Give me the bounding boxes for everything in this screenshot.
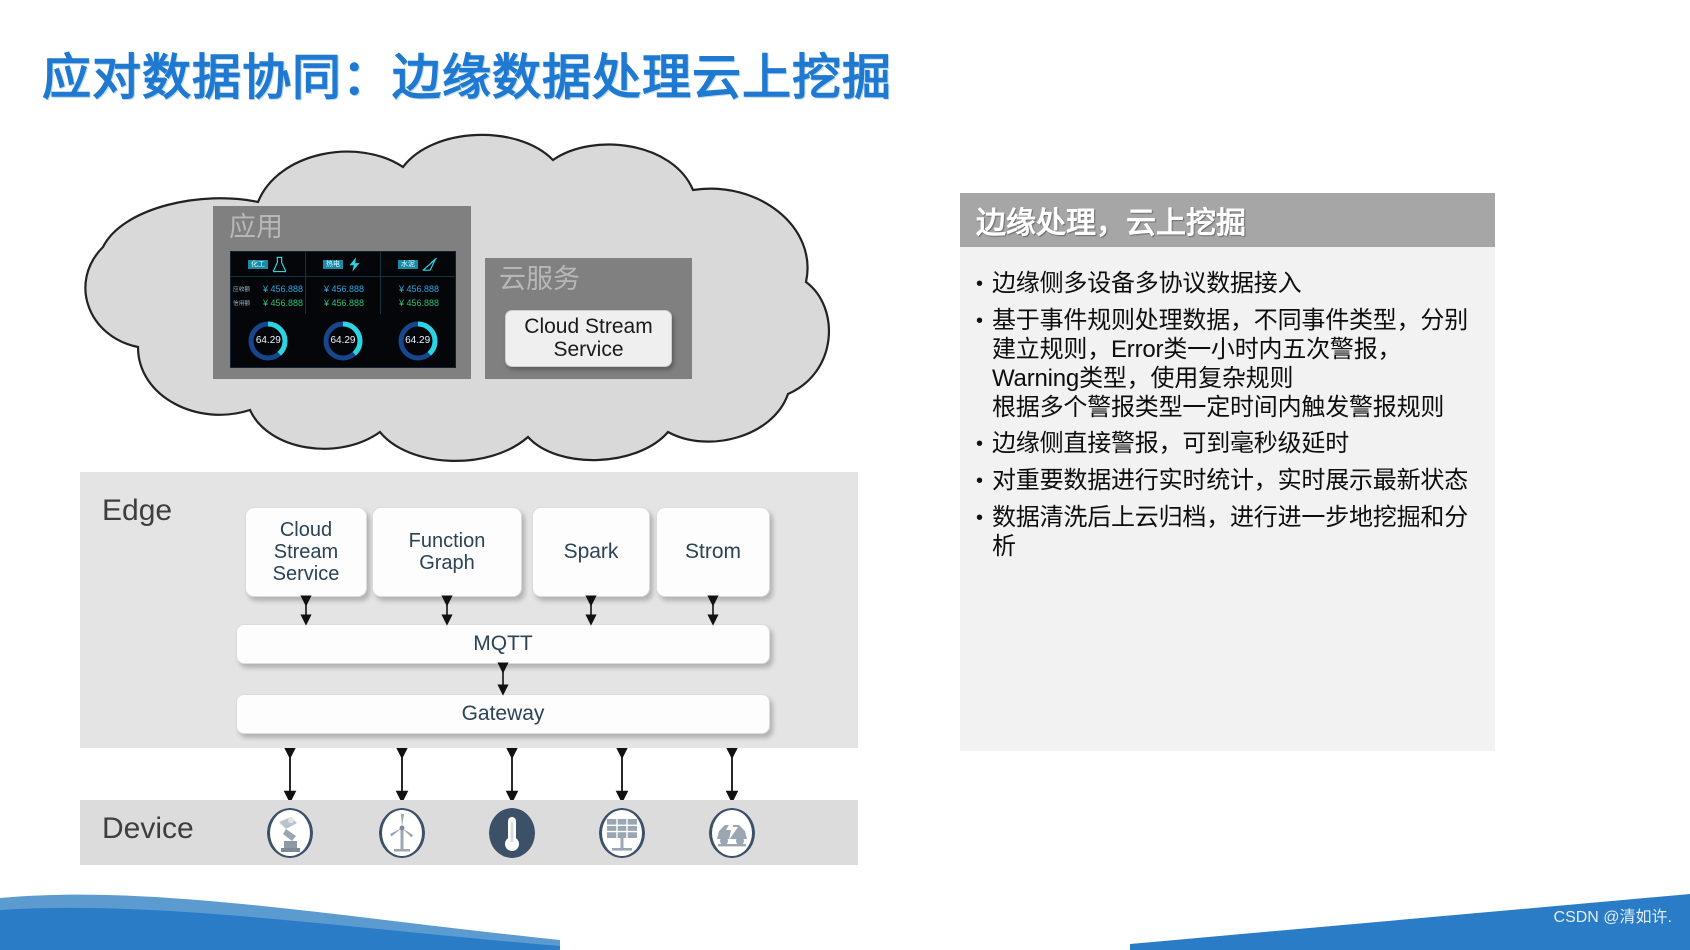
watermark: CSDN @清如许. — [1554, 903, 1672, 927]
dashboard-row-label: 信用额 — [233, 298, 260, 307]
dashboard-values: ¥ 456.888 ¥ 456.888 — [306, 277, 380, 314]
edge-node-strom[interactable]: Strom — [656, 507, 770, 597]
bullet-text: 基于事件规则处理数据，不同事件类型，分别建立规则，Error类一小时内五次警报，… — [992, 306, 1481, 422]
gauge-value: 64.29 — [396, 319, 440, 363]
edge-bar-gateway[interactable]: Gateway — [236, 694, 770, 734]
dashboard-widget: 化工 应收额 ¥ 456.888 — [230, 251, 456, 368]
cloud-service-panel: 云服务 Cloud Stream Service — [485, 258, 692, 379]
dashboard-column: 化工 应收额 ¥ 456.888 — [231, 252, 306, 314]
gauge-value: 64.29 — [246, 319, 290, 363]
app-panel-label: 应用 — [229, 214, 283, 241]
bullet-list: • 边缘侧多设备多协议数据接入 • 基于事件规则处理数据，不同事件类型，分别建立… — [960, 247, 1495, 561]
dashboard-cell: ¥ 456.888 — [308, 284, 380, 294]
list-item: • 对重要数据进行实时统计，实时展示最新状态 — [976, 466, 1481, 496]
dashboard-column: 水泥 ¥ 456.888 ¥ 456.888 — [381, 252, 455, 314]
edge-label: Edge — [102, 494, 172, 528]
dashboard-column-tag: 热电 — [323, 260, 343, 269]
device-block: Device — [80, 800, 858, 865]
thermometer-icon[interactable] — [489, 808, 535, 858]
dashboard-cell: ¥ 456.888 — [261, 298, 305, 308]
gauge-ring: 64.29 — [396, 319, 440, 363]
dashboard-values: 应收额 ¥ 456.888 信用额 ¥ 456.888 — [231, 277, 305, 314]
dashboard-row: ¥ 456.888 — [306, 296, 380, 310]
bullet-marker: • — [976, 503, 992, 561]
wind-turbine-icon[interactable] — [379, 808, 425, 858]
edge-bar-mqtt[interactable]: MQTT — [236, 624, 770, 664]
dashboard-values: ¥ 456.888 ¥ 456.888 — [381, 277, 455, 314]
bullet-text: 对重要数据进行实时统计，实时展示最新状态 — [992, 466, 1468, 496]
dashboard-column: 热电 ¥ 456.888 ¥ 456.888 — [306, 252, 381, 314]
gauge-ring: 64.29 — [246, 319, 290, 363]
page-title: 应对数据协同：边缘数据处理云上挖掘 — [42, 38, 892, 109]
dashboard-column-head: 水泥 — [381, 252, 455, 277]
dashboard-row: 应收额 ¥ 456.888 — [231, 282, 305, 296]
dashboard-row: ¥ 456.888 — [381, 282, 455, 296]
dashboard-cell: ¥ 456.888 — [308, 298, 380, 308]
flask-icon — [271, 256, 288, 273]
cloud-stream-service-box[interactable]: Cloud Stream Service — [505, 310, 672, 367]
bullet-text: 边缘侧多设备多协议数据接入 — [992, 269, 1301, 299]
dashboard-column-head: 热电 — [306, 252, 380, 277]
app-panel: 应用 化工 应收额 — [213, 206, 471, 379]
bullet-text: 边缘侧直接警报，可到毫秒级延时 — [992, 429, 1349, 459]
list-item: • 数据清洗后上云归档，进行进一步地挖掘和分析 — [976, 503, 1481, 561]
cloud-stream-service-line2: Service — [553, 338, 623, 361]
edge-node-spark[interactable]: Spark — [532, 507, 650, 597]
edge-node-label: Function Graph — [409, 530, 486, 574]
dashboard-row: 信用额 ¥ 456.888 — [231, 296, 305, 310]
dashboard-cell: ¥ 456.888 — [261, 284, 305, 294]
list-item: • 边缘侧直接警报，可到毫秒级延时 — [976, 429, 1481, 459]
bullet-marker: • — [976, 466, 992, 496]
cloud-region: 应用 化工 应收额 — [28, 132, 868, 477]
edge-block: Edge Cloud Stream Service Function Graph… — [80, 472, 858, 748]
bullet-marker: • — [976, 306, 992, 422]
trowel-icon — [421, 256, 438, 273]
edge-node-label: Cloud Stream Service — [273, 519, 340, 585]
dashboard-cell: ¥ 456.888 — [383, 284, 455, 294]
dashboard-cell: ¥ 456.888 — [383, 298, 455, 308]
edge-bar-label: MQTT — [473, 632, 532, 656]
edge-node-label: Strom — [685, 540, 741, 563]
gauge-ring: 64.29 — [321, 319, 365, 363]
device-label: Device — [102, 812, 194, 846]
dashboard-column-tag: 化工 — [248, 260, 268, 269]
bullet-marker: • — [976, 429, 992, 459]
dashboard-gauges: 64.29 64.29 64.29 — [231, 314, 455, 367]
bullet-marker: • — [976, 269, 992, 299]
right-info-panel: 边缘处理，云上挖掘 • 边缘侧多设备多协议数据接入 • 基于事件规则处理数据，不… — [960, 193, 1495, 751]
cloud-service-label: 云服务 — [499, 266, 580, 293]
cloud-stream-service-line1: Cloud Stream — [524, 315, 652, 338]
list-item: • 基于事件规则处理数据，不同事件类型，分别建立规则，Error类一小时内五次警… — [976, 306, 1481, 422]
edge-device-connector-arrows — [80, 748, 858, 802]
gauge-value: 64.29 — [321, 319, 365, 363]
slide-root: 应对数据协同：边缘数据处理云上挖掘 应用 化工 — [0, 0, 1690, 950]
edge-node-cloud-stream-service[interactable]: Cloud Stream Service — [245, 507, 367, 597]
dashboard-top: 化工 应收额 ¥ 456.888 — [231, 252, 455, 314]
right-panel-heading: 边缘处理，云上挖掘 — [960, 193, 1495, 247]
dashboard-column-head: 化工 — [231, 252, 305, 277]
lightning-icon — [346, 256, 363, 273]
bullet-text: 数据清洗后上云归档，进行进一步地挖掘和分析 — [992, 503, 1481, 561]
solar-panel-icon[interactable] — [599, 808, 645, 858]
edge-bar-label: Gateway — [462, 702, 545, 726]
edge-node-label: Spark — [564, 540, 619, 563]
dashboard-row-label: 应收额 — [233, 284, 260, 293]
list-item: • 边缘侧多设备多协议数据接入 — [976, 269, 1481, 299]
robot-arm-icon[interactable] — [267, 808, 313, 858]
dashboard-row: ¥ 456.888 — [381, 296, 455, 310]
dashboard-row: ¥ 456.888 — [306, 282, 380, 296]
edge-node-function-graph[interactable]: Function Graph — [372, 507, 522, 597]
electric-car-icon[interactable] — [709, 808, 755, 858]
ribbon-left-decoration — [0, 880, 560, 950]
dashboard-column-tag: 水泥 — [398, 260, 418, 269]
